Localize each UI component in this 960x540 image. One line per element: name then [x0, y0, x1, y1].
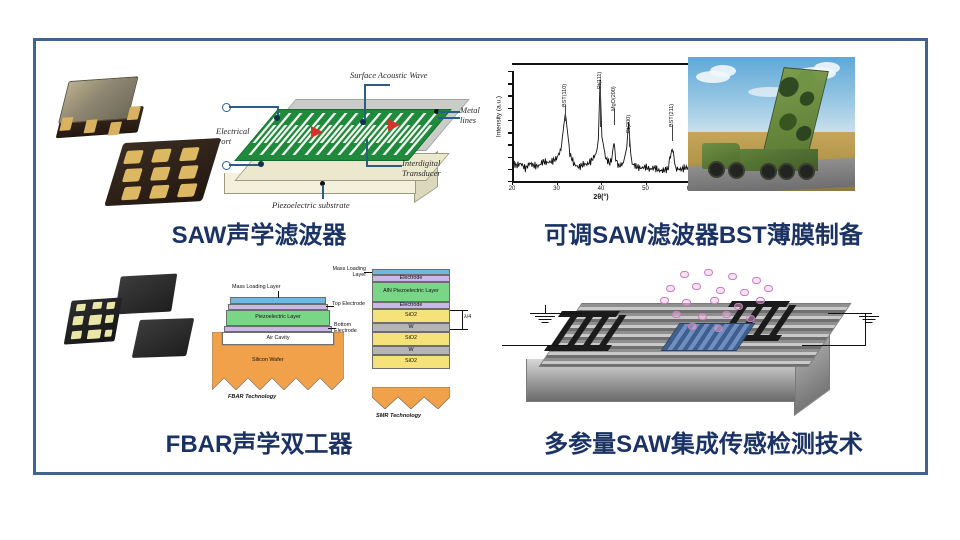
gas-molecule — [666, 285, 675, 292]
gas-molecule — [680, 271, 689, 278]
xrd-y-tick — [508, 108, 512, 109]
smr-silicon-wafer-bottom — [372, 387, 450, 409]
gas-molecule — [756, 297, 765, 304]
panel-fbar-duplexer: Piezoelectric Layer Air Cavity Silicon W… — [36, 259, 482, 472]
gas-molecules — [652, 267, 782, 329]
xrd-peak-leader — [672, 125, 673, 141]
xrd-peak-label: BST(110) — [562, 84, 568, 107]
xrd-x-axis-label: 2θ(°) — [490, 194, 712, 201]
gas-molecule — [710, 297, 719, 304]
label-piezoelectric-substrate: Piezoelectric substrate — [272, 201, 350, 211]
fbar-technology-title: FBAR Technology — [228, 394, 276, 400]
gas-molecule — [672, 311, 681, 318]
gas-molecule — [660, 297, 669, 304]
xrd-y-tick — [508, 169, 512, 170]
ground-symbol-left — [530, 313, 560, 325]
smr-mass-loading-label: Mass Loading Layer — [318, 267, 366, 279]
panel-saw-sensor: 多参量SAW集成传感检测技术 — [482, 259, 925, 472]
gas-molecule — [714, 325, 723, 332]
xrd-tick-label: 40 — [598, 186, 605, 192]
caption-saw-sensor: 多参量SAW集成传感检测技术 — [482, 424, 925, 459]
gas-molecule — [692, 283, 701, 290]
xrd-y-axis-label: Intensity (a.u.) — [496, 82, 503, 152]
smr-layer: SiO2 — [372, 332, 450, 346]
gas-molecule — [698, 313, 707, 320]
radar-vehicle-photo — [688, 57, 855, 191]
fbar-chip-photo-2 — [132, 318, 195, 358]
gas-molecule — [728, 273, 737, 280]
xrd-tick-label: 50 — [642, 186, 649, 192]
smr-layer: AlN Piezoelectric Layer — [372, 282, 450, 302]
xrd-tick — [601, 181, 602, 185]
gas-molecule — [704, 269, 713, 276]
saw-chip-photo-pads — [112, 138, 216, 215]
smr-layer-stack: ElectrodeAlN Piezoelectric LayerElectrod… — [372, 269, 450, 369]
xrd-tick-label: 30 — [553, 186, 560, 192]
smr-layer: SiO2 — [372, 355, 450, 369]
xrd-y-tick — [508, 144, 512, 145]
smr-quarter-wave-label: λ/4 — [464, 315, 471, 321]
gas-molecule — [734, 303, 743, 310]
xrd-y-tick — [508, 95, 512, 96]
xrd-peak-leader — [629, 131, 630, 147]
label-surface-acoustic-wave: Surface Acoustic Wave — [350, 71, 427, 81]
gas-molecule — [716, 287, 725, 294]
panel-saw-filter: Surface Acoustic Wave Metal lines Electr… — [36, 41, 482, 259]
gas-molecule — [682, 299, 691, 306]
smr-technology-title: SMR Technology — [376, 413, 421, 419]
label-electrical-port: Electrical Port — [216, 127, 258, 147]
fbar-bottom-electrode-label: Bottom Electrode — [334, 323, 364, 335]
gas-molecule — [722, 311, 731, 318]
xrd-chart: 2030405060 BST(110)Pt(111)MgO(200)Pt(200… — [490, 53, 705, 208]
ground-symbol-right — [854, 313, 884, 325]
gas-molecule — [752, 277, 761, 284]
xrd-tick — [646, 181, 647, 185]
xrd-y-tick — [508, 181, 512, 182]
xrd-peak-label: BST(211) — [669, 104, 675, 127]
fbar-smr-schematic: Piezoelectric Layer Air Cavity Silicon W… — [206, 261, 476, 426]
saw-gas-sensor-schematic — [502, 267, 902, 422]
xrd-tick — [512, 181, 513, 185]
saw-device-schematic: Surface Acoustic Wave Metal lines Electr… — [216, 69, 471, 219]
panel-tunable-saw-bst: 2030405060 BST(110)Pt(111)MgO(200)Pt(200… — [482, 41, 925, 259]
fbar-chip-photo-pads — [64, 297, 123, 344]
label-interdigital-transducer: Interdigital Transducer — [402, 159, 446, 179]
xrd-y-tick — [508, 120, 512, 121]
gas-molecule — [740, 289, 749, 296]
xrd-y-tick — [508, 71, 512, 72]
smr-layer: Electrode — [372, 275, 450, 282]
gas-molecule — [746, 315, 755, 322]
fbar-silicon-wafer: Silicon Wafer — [212, 332, 344, 390]
saw-chip-photo-metal-lid — [56, 76, 146, 144]
xrd-tick — [557, 181, 558, 185]
smr-layer: W — [372, 346, 450, 355]
caption-fbar-duplexer: FBAR声学双工器 — [36, 424, 482, 459]
caption-tunable-saw-bst: 可调SAW滤波器BST薄膜制备 — [482, 215, 925, 250]
fbar-piezoelectric-layer: Piezoelectric Layer — [226, 310, 330, 326]
gas-molecule — [764, 285, 773, 292]
slide-canvas: Surface Acoustic Wave Metal lines Electr… — [0, 0, 960, 540]
fbar-mass-loading-label: Mass Loading Layer — [232, 285, 281, 291]
xrd-peak-leader — [614, 109, 615, 125]
xrd-peak-leader — [565, 105, 566, 121]
xrd-y-tick — [508, 132, 512, 133]
xrd-tick-label: 20 — [509, 186, 516, 192]
gas-molecule — [688, 323, 697, 330]
fbar-mass-loading-layer — [230, 297, 326, 304]
smr-layer: SiO2 — [372, 309, 450, 323]
xrd-peak-leader — [600, 87, 601, 127]
fbar-chip-photo-1 — [115, 274, 178, 315]
xrd-peak-label: MgO(200) — [611, 86, 617, 111]
smr-layer: W — [372, 323, 450, 332]
smr-layer: Electrode — [372, 302, 450, 309]
fbar-top-electrode-label: Top Electrode — [332, 302, 365, 308]
xrd-y-tick — [508, 83, 512, 84]
xrd-y-tick — [508, 157, 512, 158]
caption-saw-filter: SAW声学滤波器 — [36, 215, 482, 250]
